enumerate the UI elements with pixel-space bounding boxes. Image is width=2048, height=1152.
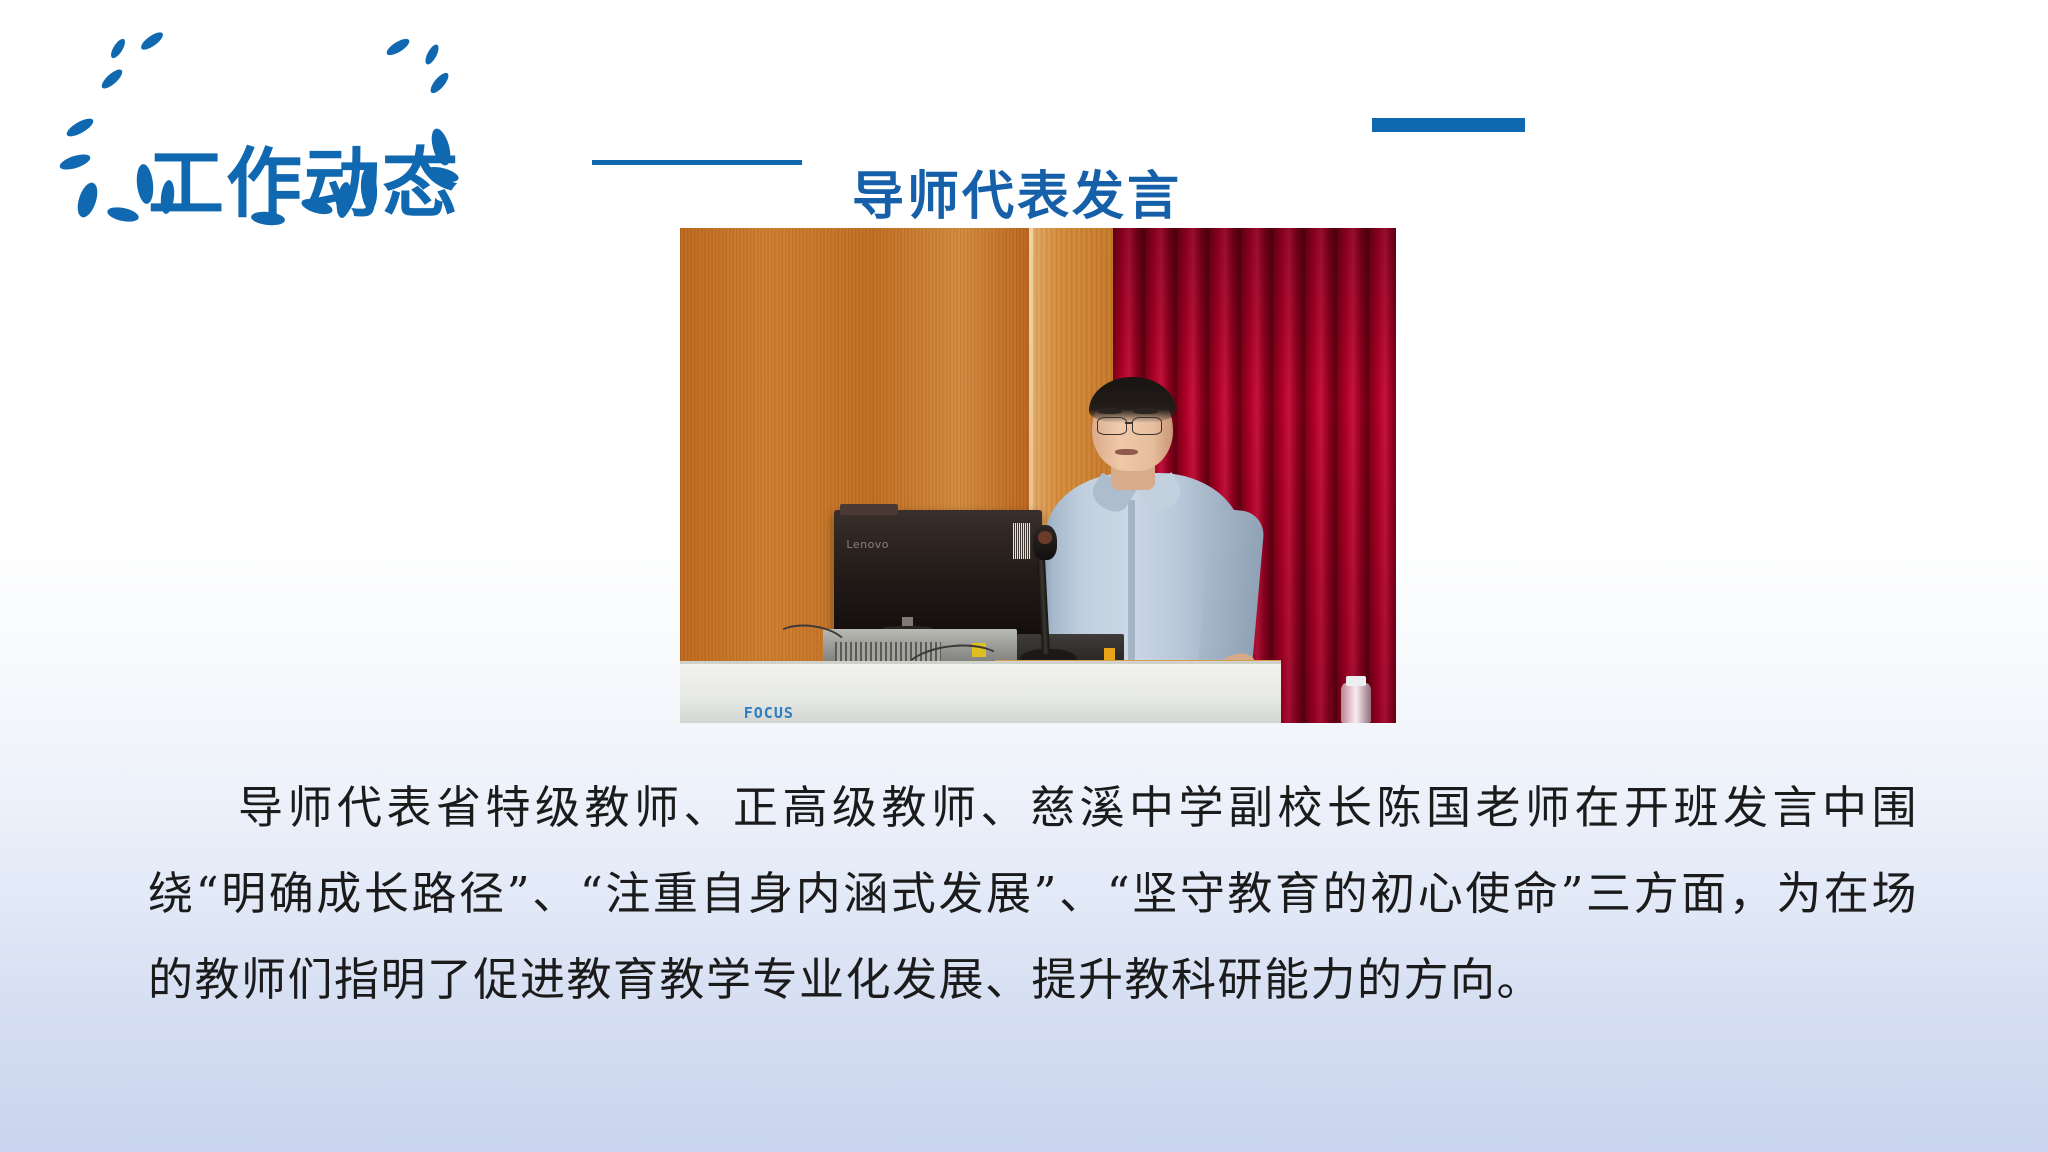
slide-header: 工作动态 导师代表发言 [0, 0, 2048, 235]
leaf-icon [139, 29, 166, 52]
eyebrow-left [1098, 408, 1122, 414]
leaf-icon [106, 205, 140, 224]
leaf-icon [74, 180, 101, 219]
leaf-icon [58, 151, 92, 172]
shirt-placket [1128, 500, 1134, 678]
microphone-grille [1038, 531, 1052, 545]
leaf-icon [428, 70, 452, 96]
speaker-hair [1089, 377, 1176, 423]
computer-monitor: Lenovo [834, 510, 1042, 639]
equipment-led-secondary [1104, 648, 1116, 660]
glasses-lens-right [1132, 417, 1162, 435]
eyebrow-right [1133, 408, 1157, 414]
body-text-block: 导师代表省特级教师、正高级教师、慈溪中学副校长陈国老师在开班发言中围绕“明确成长… [148, 765, 1918, 1023]
microphone-head [1033, 525, 1057, 560]
glasses-lens-left [1097, 417, 1127, 435]
glasses-bridge [1125, 422, 1133, 424]
water-bottle-cap [1346, 676, 1366, 687]
podium-brand-label: FOCUS [744, 704, 794, 722]
body-paragraph: 导师代表省特级教师、正高级教师、慈溪中学副校长陈国老师在开班发言中围绕“明确成长… [148, 765, 1918, 1023]
page-subtitle: 导师代表发言 [852, 171, 1182, 223]
monitor-brand-label: Lenovo [846, 538, 889, 551]
podium-desk: FOCUS [680, 661, 1281, 723]
slide-root: 工作动态 导师代表发言 [0, 0, 2048, 1152]
leaf-icon [64, 115, 95, 140]
page-title: 工作动态 [148, 146, 460, 222]
title-connector-line [592, 160, 802, 165]
speaker-mouth [1115, 449, 1137, 455]
accent-bar [1372, 118, 1525, 132]
leaf-icon [108, 37, 127, 60]
leaf-icon [99, 67, 125, 92]
photo-scene: Lenovo [680, 228, 1396, 723]
monitor-barcode-sticker [1013, 523, 1032, 559]
speaker-photo: Lenovo [680, 228, 1396, 723]
monitor-top-clip [840, 504, 898, 516]
leaf-icon [384, 36, 411, 58]
water-bottle [1341, 683, 1371, 723]
leaf-icon [423, 43, 441, 67]
